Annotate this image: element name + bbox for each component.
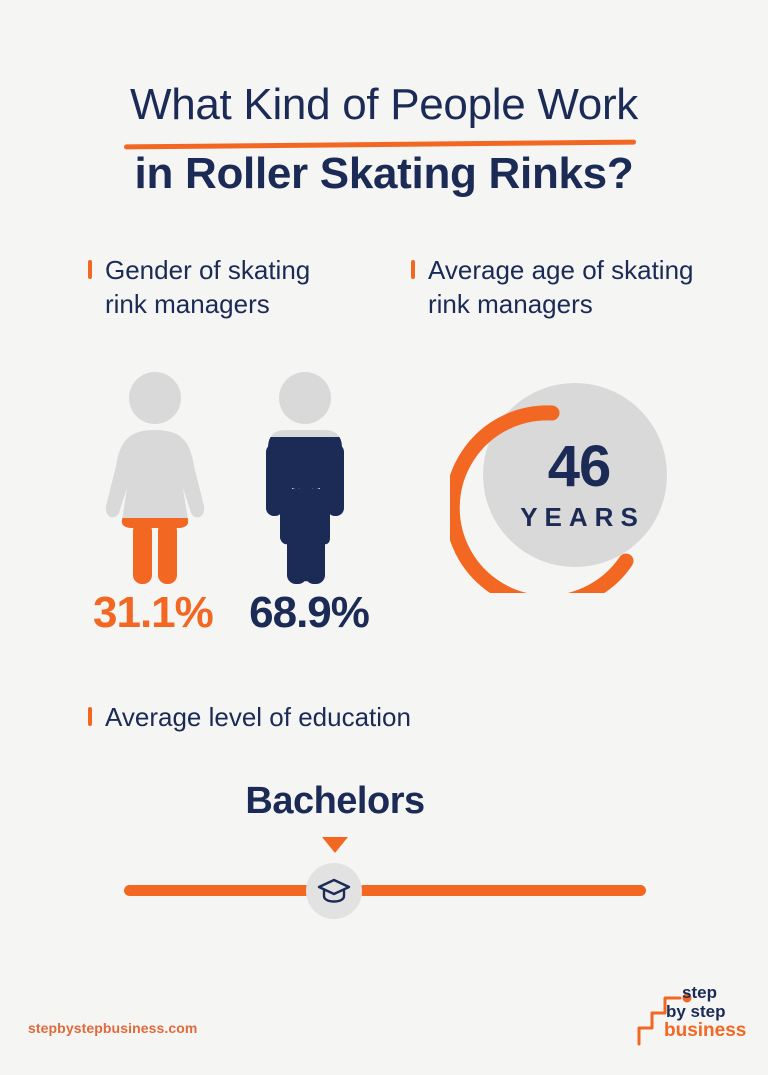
education-slider[interactable]: Bachelors [0,780,768,920]
age-number: 46 [548,438,611,496]
male-percentage: 68.9% [249,588,415,638]
title-line-1: What Kind of People Work [0,78,768,132]
section-label-age: Average age of skating rink managers [411,253,701,321]
accent-tick-icon [88,260,92,279]
gender-chart: 31.1% 68.9% [85,370,415,630]
section-label-gender: Gender of skating rink managers [88,253,358,321]
education-value: Bachelors [0,780,670,823]
slider-caret-icon [322,837,348,853]
page-title: What Kind of People Work in Roller Skati… [0,78,768,201]
logo-line-3: business [664,1021,756,1041]
male-figure [250,370,360,585]
brand-logo[interactable]: step by step business [636,984,752,1046]
age-value-group: 46 YEARS [450,378,680,593]
logo-line-1: step [664,984,756,1002]
infographic-page: What Kind of People Work in Roller Skati… [0,0,768,1075]
average-age-chart: 46 YEARS [450,378,680,593]
section-label-education: Average level of education [88,700,608,734]
gender-percentages: 31.1% 68.9% [85,588,415,638]
female-figure [100,370,210,585]
logo-wordmark: step by step business [664,984,756,1041]
accent-tick-icon [411,260,415,279]
female-percentage: 31.1% [85,588,249,638]
age-unit: YEARS [513,502,645,533]
slider-track-right[interactable] [358,885,646,896]
accent-tick-icon [88,707,92,726]
slider-track-left[interactable] [124,885,312,896]
graduation-cap-icon [317,876,351,906]
slider-knob[interactable] [306,863,362,919]
section-label-education-text: Average level of education [105,700,411,734]
section-label-age-text: Average age of skating rink managers [428,253,701,321]
footer-website-url[interactable]: stepbystepbusiness.com [28,1020,197,1036]
logo-line-2: by step [664,1002,756,1021]
section-label-gender-text: Gender of skating rink managers [105,253,358,321]
title-line-2: in Roller Skating Rinks? [0,147,768,201]
